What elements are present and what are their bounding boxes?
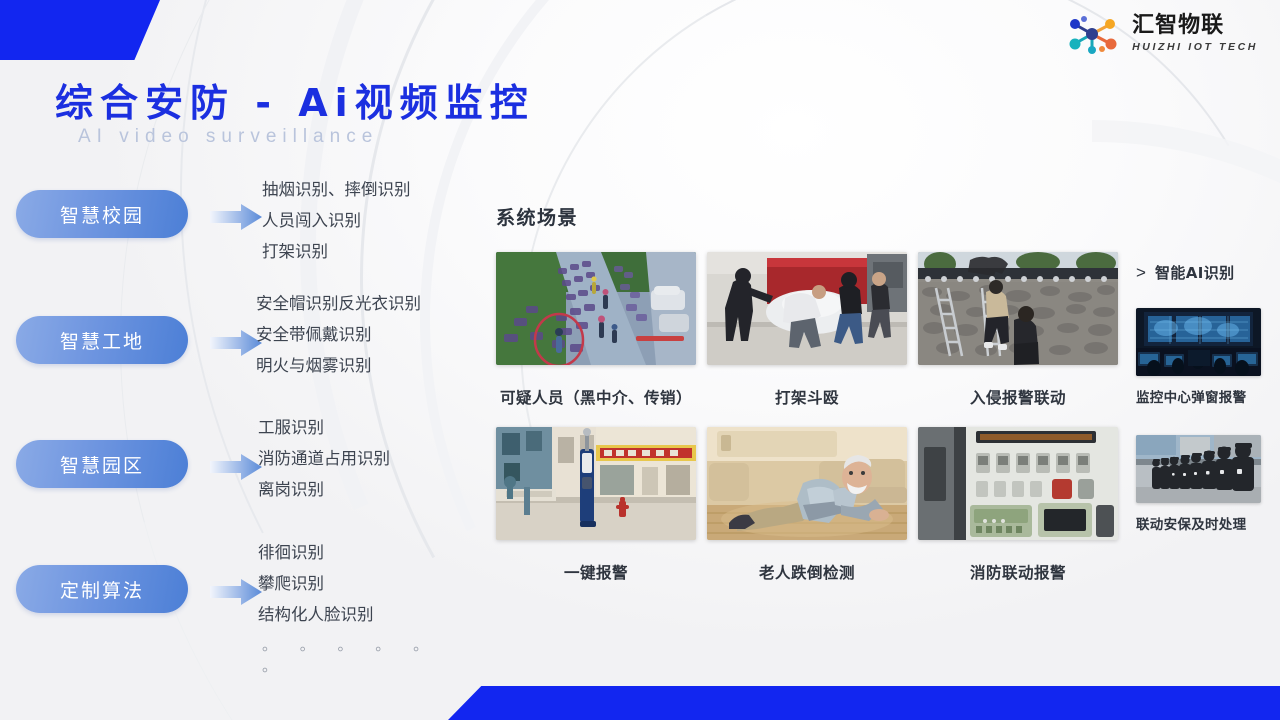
elderly-fall-image xyxy=(707,427,907,540)
scene-card[interactable]: 消防联动报警 xyxy=(918,427,1118,583)
list-item: 攀爬识别 xyxy=(258,568,468,599)
emergency-call-pillar-image xyxy=(496,427,696,540)
brand-logo-text: 汇智物联 HUIZHI IOT TECH xyxy=(1132,15,1258,53)
list-item: 打架识别 xyxy=(262,236,472,267)
scene-card[interactable]: 入侵报警联动 xyxy=(918,252,1118,408)
street-fight-image xyxy=(707,252,907,365)
category-items: 工服识别 消防通道占用识别 离岗识别 xyxy=(258,412,468,505)
brand-name-en: HUIZHI IOT TECH xyxy=(1132,42,1258,53)
arrow-right-icon xyxy=(208,452,264,482)
page-subtitle: AI video surveillance xyxy=(78,126,378,148)
list-item: 消防通道占用识别 xyxy=(258,443,468,474)
category-pill-smart-construction[interactable]: 智慧工地 xyxy=(16,316,188,364)
ai-panel-card[interactable]: 监控中心弹窗报警 xyxy=(1136,308,1261,406)
scene-caption: 打架斗殴 xyxy=(707,386,907,408)
scene-caption: 老人跌倒检测 xyxy=(707,561,907,583)
arrow-right-icon xyxy=(208,202,264,232)
security-guards-formation-image xyxy=(1136,435,1261,503)
list-item: 离岗识别 xyxy=(258,474,468,505)
scene-card[interactable]: 可疑人员（黑中介、传销） xyxy=(496,252,711,408)
ai-panel-caption: 联动安保及时处理 xyxy=(1136,513,1261,533)
scene-caption: 一键报警 xyxy=(496,561,696,583)
arrow-right-icon xyxy=(208,577,264,607)
ai-panel-heading: 智能AI识别 xyxy=(1155,262,1235,283)
molecule-network-icon xyxy=(1064,14,1122,54)
list-item: 明火与烟雾识别 xyxy=(256,350,466,381)
category-pill-smart-park[interactable]: 智慧园区 xyxy=(16,440,188,488)
category-pill-smart-campus[interactable]: 智慧校园 xyxy=(16,190,188,238)
scene-caption: 消防联动报警 xyxy=(918,561,1118,583)
scenes-heading: 系统场景 xyxy=(496,203,578,230)
scene-card[interactable]: 老人跌倒检测 xyxy=(707,427,907,583)
ai-panel-header: > 智能AI识别 xyxy=(1136,262,1235,283)
category-row: 智慧园区 工服识别 消防通道占用识别 离岗识别 xyxy=(0,424,470,546)
page-title: 综合安防 - Ai视频监控 xyxy=(55,72,535,127)
scene-card[interactable]: 一键报警 xyxy=(496,427,696,583)
list-item: 安全帽识别反光衣识别 xyxy=(256,288,466,319)
category-row: 智慧工地 安全帽识别反光衣识别 安全带佩戴识别 明火与烟雾识别 xyxy=(0,302,470,424)
slide-canvas: 汇智物联 HUIZHI IOT TECH 综合安防 - Ai视频监控 AI vi… xyxy=(0,0,1280,720)
category-pill-custom-algorithm[interactable]: 定制算法 xyxy=(16,565,188,613)
category-row: 智慧校园 抽烟识别、摔倒识别 人员闯入识别 打架识别 xyxy=(0,180,470,302)
category-items: 抽烟识别、摔倒识别 人员闯入识别 打架识别 xyxy=(262,174,472,267)
brand-logo: 汇智物联 HUIZHI IOT TECH xyxy=(1064,14,1258,54)
list-item: 安全带佩戴识别 xyxy=(256,319,466,350)
category-items: 安全帽识别反光衣识别 安全带佩戴识别 明火与烟雾识别 xyxy=(256,288,466,381)
scene-caption: 入侵报警联动 xyxy=(918,386,1118,408)
ai-panel-card[interactable]: 联动安保及时处理 xyxy=(1136,435,1261,533)
category-row: 定制算法 徘徊识别 攀爬识别 结构化人脸识别 。 。 。 。 。 。 xyxy=(0,546,470,668)
list-item: 工服识别 xyxy=(258,412,468,443)
list-item: 抽烟识别、摔倒识别 xyxy=(262,174,472,205)
list-item: 人员闯入识别 xyxy=(262,205,472,236)
ai-panel-caption: 监控中心弹窗报警 xyxy=(1136,386,1261,406)
top-left-accent-shape xyxy=(0,0,160,60)
more-indicator: 。 。 。 。 。 。 xyxy=(258,634,468,676)
chevron-right-icon: > xyxy=(1136,264,1146,281)
scene-caption: 可疑人员（黑中介、传销） xyxy=(481,386,711,408)
category-items: 徘徊识别 攀爬识别 结构化人脸识别 。 。 。 。 。 。 xyxy=(258,537,468,676)
monitoring-center-image xyxy=(1136,308,1261,376)
list-item: 结构化人脸识别 xyxy=(258,599,468,630)
category-list: 智慧校园 抽烟识别、摔倒识别 人员闯入识别 打架识别 智慧工地 xyxy=(0,180,470,668)
bottom-right-accent-shape xyxy=(448,686,1280,720)
list-item: 徘徊识别 xyxy=(258,537,468,568)
fire-control-panel-image xyxy=(918,427,1118,540)
wall-climbing-intrusion-image xyxy=(918,252,1118,365)
street-crowd-surveillance-image xyxy=(496,252,696,365)
scene-card[interactable]: 打架斗殴 xyxy=(707,252,907,408)
brand-name-cn: 汇智物联 xyxy=(1132,15,1258,37)
